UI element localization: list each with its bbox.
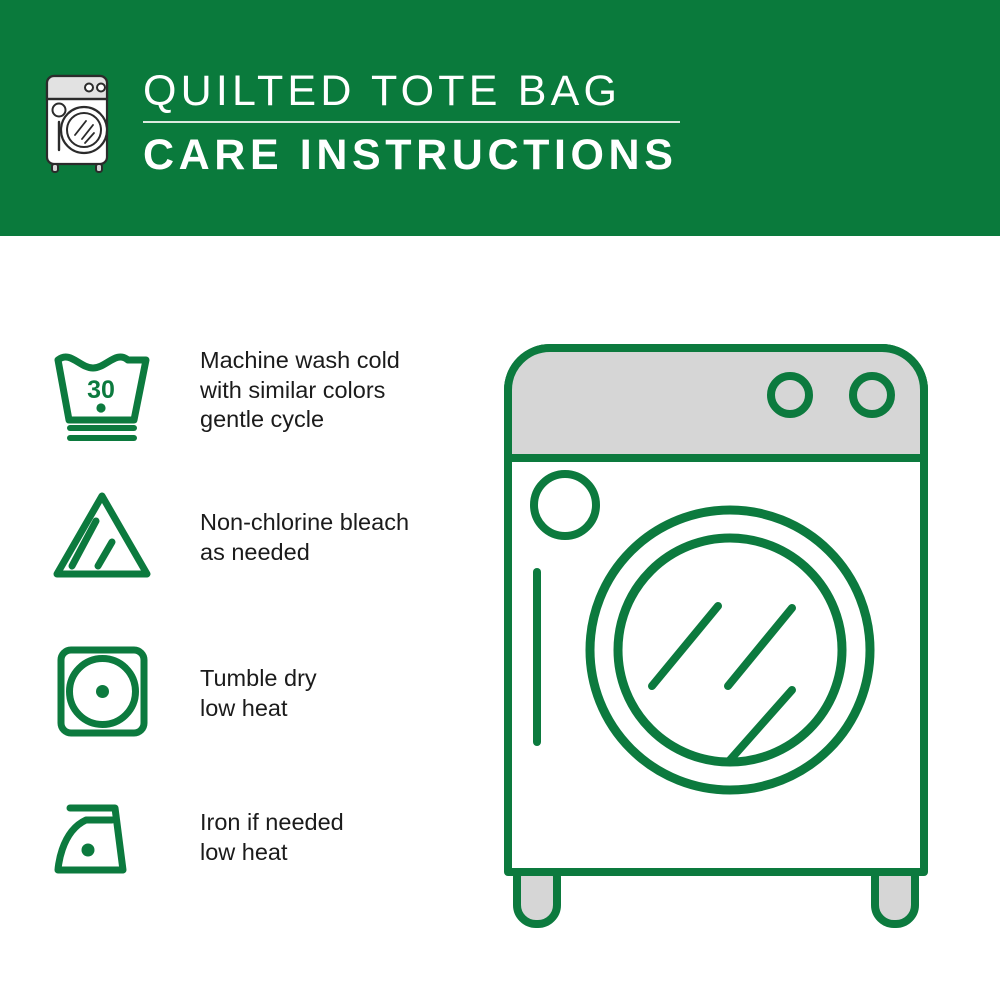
- machine-wash-basin-icon: 30: [50, 344, 160, 449]
- wash-temperature-label: 30: [87, 376, 115, 404]
- page-subtitle: CARE INSTRUCTIONS: [143, 130, 743, 180]
- care-instructions-infographic: QUILTED TOTE BAG CARE INSTRUCTIONS 30 Ma…: [0, 0, 1000, 1000]
- iron-low-heat-icon: [50, 792, 160, 897]
- care-row-bleach: Non-chlorine bleach as needed: [50, 486, 470, 591]
- care-row-iron: Iron if needed low heat: [50, 792, 470, 897]
- care-row-machine-wash: 30 Machine wash cold with similar colors…: [50, 344, 470, 449]
- header-text-block: QUILTED TOTE BAG CARE INSTRUCTIONS: [143, 66, 743, 180]
- care-instruction-list: 30 Machine wash cold with similar colors…: [0, 236, 470, 1000]
- washing-machine-icon: [44, 73, 110, 174]
- knob-left: [771, 376, 809, 414]
- care-row-tumble-dry: Tumble dry low heat: [50, 642, 470, 747]
- care-instruction-text: Non-chlorine bleach as needed: [200, 486, 409, 567]
- non-chlorine-bleach-triangle-icon: [50, 486, 160, 591]
- care-instruction-text: Iron if needed low heat: [200, 792, 344, 867]
- knob-right: [853, 376, 891, 414]
- care-instruction-text: Machine wash cold with similar colors ge…: [200, 344, 400, 435]
- care-instruction-text: Tumble dry low heat: [200, 642, 317, 723]
- header-banner: QUILTED TOTE BAG CARE INSTRUCTIONS: [0, 0, 1000, 236]
- front-load-washing-machine-illustration: [480, 320, 980, 950]
- page-title: QUILTED TOTE BAG: [143, 66, 743, 116]
- title-divider: [143, 121, 680, 123]
- door-inner-ring: [618, 538, 842, 762]
- detergent-dial: [534, 474, 596, 536]
- tumble-dry-icon: [50, 642, 160, 747]
